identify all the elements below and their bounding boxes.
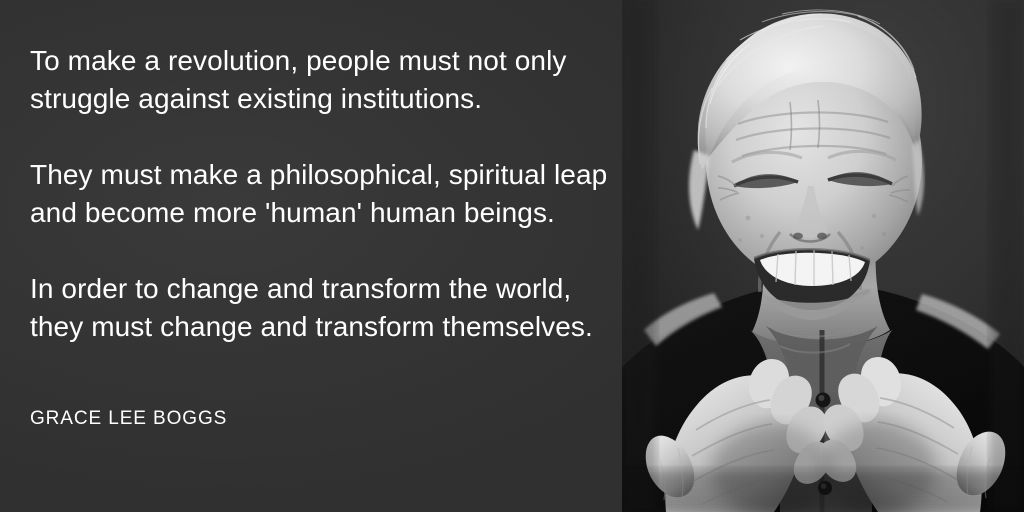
quote-block: To make a revolution, people must not on…	[30, 42, 612, 346]
portrait-photo	[622, 0, 1024, 512]
quote-paragraph-2: They must make a philosophical, spiritua…	[30, 156, 612, 232]
quote-paragraph-1: To make a revolution, people must not on…	[30, 42, 612, 118]
text-panel: To make a revolution, people must not on…	[0, 0, 622, 512]
attribution-name: GRACE LEE BOGGS	[30, 407, 227, 431]
portrait-illustration	[622, 0, 1024, 512]
quote-paragraph-3: In order to change and transform the wor…	[30, 270, 612, 346]
quote-card: To make a revolution, people must not on…	[0, 0, 1024, 512]
